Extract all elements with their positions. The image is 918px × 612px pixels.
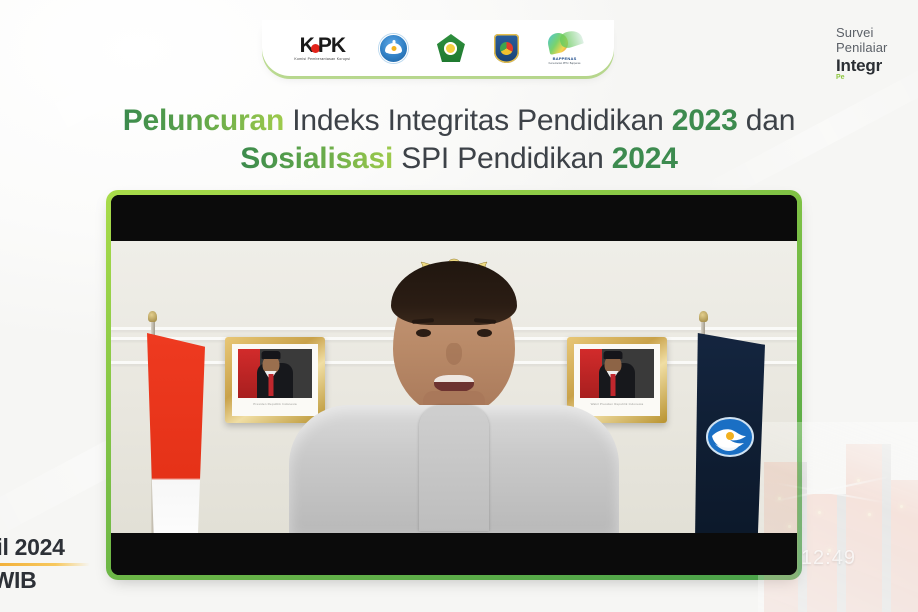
tut-wuri-handayani-icon	[706, 416, 754, 458]
video-viewport[interactable]: Presiden Republik Indonesia	[111, 195, 797, 575]
bappenas-sublabel: Kementerian PPN / Bappenas	[549, 62, 581, 65]
video-player-frame[interactable]: Presiden Republik Indonesia	[106, 190, 802, 580]
speaker-figure	[289, 263, 619, 533]
city-skyline-graphic	[758, 422, 918, 612]
letterbox-top	[111, 195, 797, 241]
kemendagri-logo	[494, 34, 519, 63]
title-line-2-text: SPI Pendidikan	[393, 142, 612, 175]
title-line-1-tail: dan	[738, 104, 796, 137]
letterbox-bottom	[111, 533, 797, 575]
page-title: Peluncuran Indeks Integritas Pendidikan …	[0, 102, 918, 179]
event-time: 0 WIB	[0, 567, 104, 594]
bappenas-logo: BAPPENAS Kementerian PPN / Bappenas	[548, 31, 582, 65]
title-line-1-text: Indeks Integritas Pendidikan	[284, 104, 672, 137]
kemenag-logo	[437, 34, 465, 62]
kpk-wordmark: KPK	[300, 35, 345, 56]
indonesia-flag	[147, 333, 205, 533]
flagpole-finial-left	[148, 311, 157, 322]
video-timestamp: 12:49	[801, 547, 856, 570]
flagpole-finial-right	[699, 311, 708, 322]
kpk-logo: KPK Komisi Pemberantasan Korupsi	[294, 35, 350, 61]
date-underline	[0, 563, 90, 566]
video-scene: Presiden Republik Indonesia	[111, 241, 797, 533]
kemendikbud-flag	[695, 333, 765, 533]
spi-line-4: Pe	[836, 74, 918, 82]
event-date: pril 2024	[0, 534, 104, 561]
kemendikbud-logo	[379, 34, 408, 63]
spi-line-1: Survei	[836, 26, 918, 41]
spi-brand-badge: Survei Penilaiar Integr Pe	[836, 26, 918, 82]
speaker-jacket	[289, 405, 619, 533]
spi-line-3: Integr	[836, 56, 918, 75]
spi-line-2: Penilaiar	[836, 41, 918, 56]
title-year-2024: 2024	[612, 142, 678, 175]
title-line-1: Peluncuran Indeks Integritas Pendidikan …	[0, 102, 918, 140]
title-line-2: Sosialisasi SPI Pendidikan 2024	[0, 140, 918, 178]
title-year-2023: 2023	[672, 104, 738, 137]
title-highlight-peluncuran: Peluncuran	[123, 104, 284, 137]
event-datetime: pril 2024 0 WIB	[0, 534, 104, 594]
bappenas-label: BAPPENAS	[553, 56, 577, 61]
speaker-hair	[391, 261, 517, 325]
kpk-tagline: Komisi Pemberantasan Korupsi	[294, 58, 350, 61]
partner-logo-bar: KPK Komisi Pemberantasan Korupsi BAPPENA…	[262, 20, 614, 76]
title-highlight-sosialisasi: Sosialisasi	[240, 142, 393, 175]
presentation-slide: KPK Komisi Pemberantasan Korupsi BAPPENA…	[0, 0, 918, 612]
